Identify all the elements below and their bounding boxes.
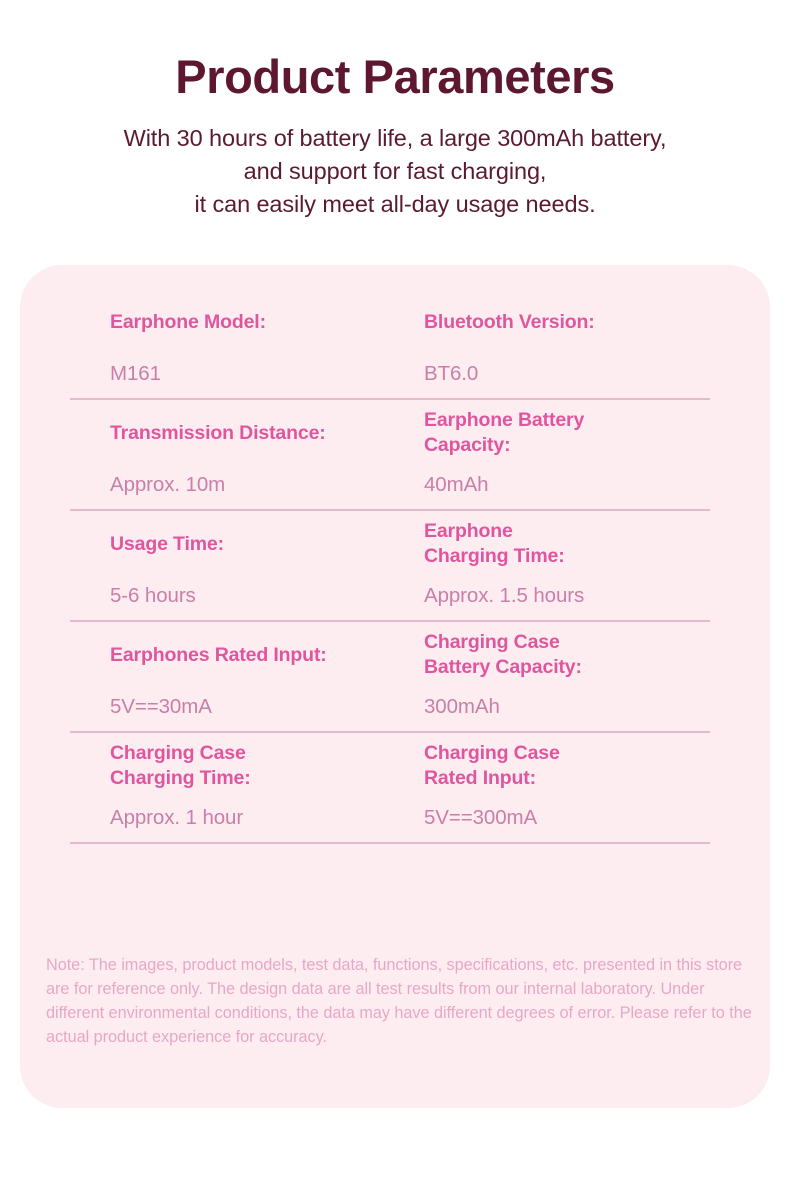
table-row: Earphones Rated Input: 5V==30mA Charging… [70, 622, 710, 733]
spec-label-line: Charging Case [424, 741, 710, 766]
spec-cell-charging-case-battery-capacity: Charging Case Battery Capacity: 300mAh [397, 622, 710, 731]
spec-table: Earphone Model: M161 Bluetooth Version: … [70, 289, 710, 844]
spec-label: Usage Time: [110, 519, 397, 569]
spec-cell-earphones-rated-input: Earphones Rated Input: 5V==30mA [70, 622, 397, 731]
spec-label-line: Earphone Model: [110, 310, 397, 335]
spec-cell-usage-time: Usage Time: 5-6 hours [70, 511, 397, 620]
spec-value: 5-6 hours [110, 583, 397, 610]
spec-value: Approx. 1 hour [110, 805, 397, 832]
spec-label-line: Charging Case [110, 741, 397, 766]
page-title: Product Parameters [0, 52, 790, 103]
product-parameters-page: Product Parameters With 30 hours of batt… [0, 0, 790, 1187]
table-row: Transmission Distance: Approx. 10m Earph… [70, 400, 710, 511]
spec-cell-transmission-distance: Transmission Distance: Approx. 10m [70, 400, 397, 509]
spec-label-line: Battery Capacity: [424, 655, 710, 680]
spec-value: 300mAh [424, 694, 710, 721]
spec-card: Earphone Model: M161 Bluetooth Version: … [20, 265, 770, 1108]
disclaimer-note: Note: The images, product models, test d… [46, 953, 754, 1049]
spec-cell-earphone-charging-time: Earphone Charging Time: Approx. 1.5 hour… [397, 511, 710, 620]
table-row: Earphone Model: M161 Bluetooth Version: … [70, 289, 710, 400]
spec-value: M161 [110, 361, 397, 388]
table-row: Usage Time: 5-6 hours Earphone Charging … [70, 511, 710, 622]
spec-label: Charging Case Charging Time: [110, 741, 397, 791]
spec-label: Earphone Model: [110, 297, 397, 347]
spec-label: Transmission Distance: [110, 408, 397, 458]
spec-label-line: Charging Time: [110, 766, 397, 791]
spec-label-line: Earphones Rated Input: [110, 643, 397, 668]
spec-label-line: Usage Time: [110, 532, 397, 557]
spec-cell-earphone-battery-capacity: Earphone Battery Capacity: 40mAh [397, 400, 710, 509]
page-subtitle-line: With 30 hours of battery life, a large 3… [35, 122, 755, 155]
spec-value: 40mAh [424, 472, 710, 499]
page-subtitle-line: it can easily meet all-day usage needs. [35, 188, 755, 221]
spec-label-line: Earphone Battery [424, 408, 710, 433]
spec-label: Bluetooth Version: [424, 297, 710, 347]
spec-label: Charging Case Rated Input: [424, 741, 710, 791]
spec-label: Earphone Battery Capacity: [424, 408, 710, 458]
table-row: Charging Case Charging Time: Approx. 1 h… [70, 733, 710, 844]
page-subtitle: With 30 hours of battery life, a large 3… [35, 122, 755, 222]
spec-cell-earphone-model: Earphone Model: M161 [70, 289, 397, 398]
spec-label-line: Earphone [424, 519, 710, 544]
spec-label-line: Rated Input: [424, 766, 710, 791]
spec-label: Charging Case Battery Capacity: [424, 630, 710, 680]
page-subtitle-line: and support for fast charging, [35, 155, 755, 188]
spec-label-line: Charging Case [424, 630, 710, 655]
spec-value: Approx. 1.5 hours [424, 583, 710, 610]
page-header: Product Parameters With 30 hours of batt… [0, 0, 790, 222]
spec-cell-charging-case-rated-input: Charging Case Rated Input: 5V==300mA [397, 733, 710, 842]
spec-value: BT6.0 [424, 361, 710, 388]
spec-label-line: Transmission Distance: [110, 421, 397, 446]
spec-cell-bluetooth-version: Bluetooth Version: BT6.0 [397, 289, 710, 398]
spec-value: 5V==30mA [110, 694, 397, 721]
spec-label-line: Capacity: [424, 433, 710, 458]
spec-value: Approx. 10m [110, 472, 397, 499]
spec-value: 5V==300mA [424, 805, 710, 832]
spec-label: Earphones Rated Input: [110, 630, 397, 680]
spec-label: Earphone Charging Time: [424, 519, 710, 569]
spec-cell-charging-case-charging-time: Charging Case Charging Time: Approx. 1 h… [70, 733, 397, 842]
spec-label-line: Charging Time: [424, 544, 710, 569]
spec-label-line: Bluetooth Version: [424, 310, 710, 335]
